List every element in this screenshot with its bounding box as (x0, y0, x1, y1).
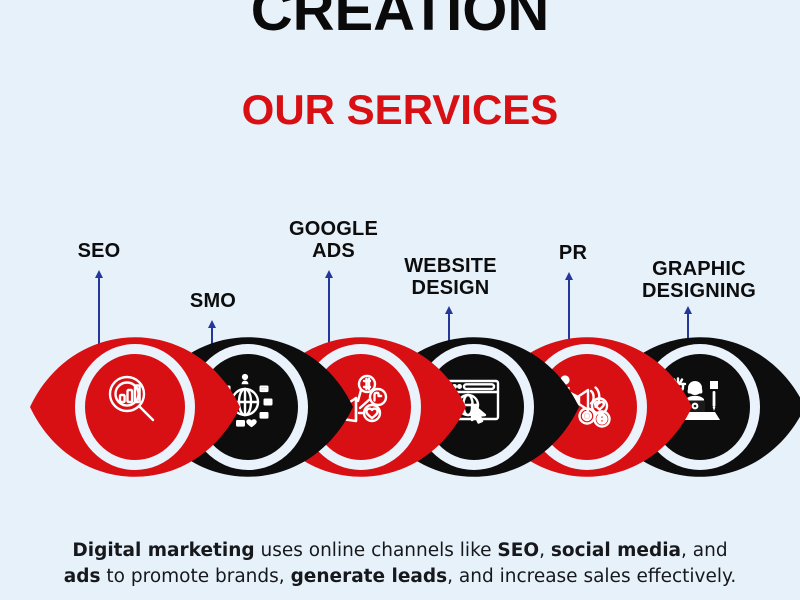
footer-text-run: , (539, 540, 551, 561)
service-nodes-area (0, 332, 800, 492)
footer-text-run: uses online channels like (255, 540, 498, 561)
footer-text-run: , and increase sales effectively. (447, 566, 736, 587)
footer-emphasis: generate leads (291, 566, 448, 587)
footer-emphasis: Digital marketing (72, 540, 254, 561)
service-label-website-design: WEBSITE DESIGN (378, 255, 523, 300)
magnifier-bar-chart-icon (100, 368, 170, 442)
footer-text-run: , and (681, 540, 728, 561)
service-label-smo: SMO (148, 290, 278, 312)
footer-text-run: to promote brands, (101, 566, 291, 587)
service-label-graphic-designing: GRAPHIC DESIGNING (614, 258, 784, 303)
footer-emphasis: SEO (497, 540, 539, 561)
footer-emphasis: ads (64, 566, 101, 587)
service-node-seo[interactable] (28, 332, 242, 482)
footer-emphasis: social media (551, 540, 681, 561)
service-label-seo: SEO (34, 240, 164, 262)
footer-description: Digital marketing uses online channels l… (58, 538, 742, 590)
